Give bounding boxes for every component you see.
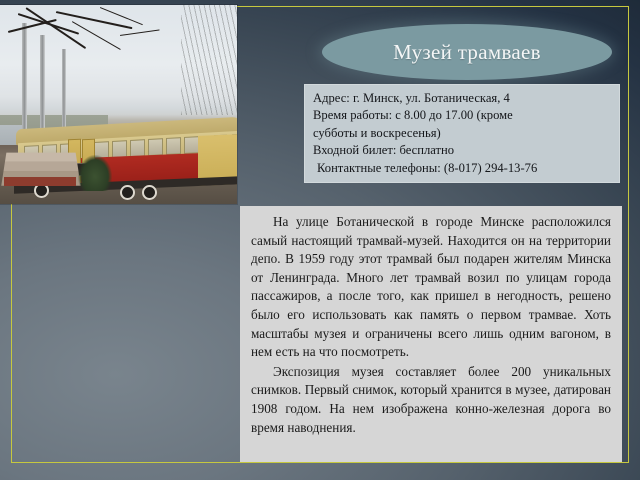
presentation-slide: Музей трамваев Адрес: г. Минск, ул. Бота… (0, 0, 640, 480)
info-hours-line-1: Время работы: с 8.00 до 17.00 (кроме (313, 107, 612, 124)
photo-tram-window (184, 136, 199, 154)
photo-steps-base (4, 177, 76, 186)
photo-tram-window (130, 139, 145, 157)
photo-branch (56, 11, 133, 29)
info-address: Адрес: г. Минск, ул. Ботаническая, 4 (313, 90, 612, 107)
museum-description-box: На улице Ботанической в городе Минске ра… (240, 206, 622, 462)
photo-birch-trunk (22, 23, 27, 139)
photo-tram-window (148, 138, 163, 156)
page-title: Музей трамваев (393, 40, 541, 65)
photo-tram-window (166, 137, 181, 155)
photo-branch (8, 19, 57, 33)
photo-canvas (0, 5, 237, 204)
info-hours-line-2: субботы и воскресенья) (313, 125, 612, 142)
info-phones: Контактные телефоны: (8-017) 294-13-76 (313, 160, 612, 177)
museum-info-box: Адрес: г. Минск, ул. Ботаническая, 4 Вре… (304, 84, 620, 183)
photo-birch-trunk (40, 35, 45, 135)
tram-museum-photo (0, 5, 237, 204)
photo-branch (120, 29, 160, 36)
photo-birch-trunk (62, 49, 66, 135)
photo-branch (72, 21, 121, 50)
photo-willow-tree (181, 5, 237, 115)
photo-branch (25, 7, 86, 49)
photo-tram-wheel (142, 185, 157, 200)
photo-shrub (78, 155, 112, 191)
info-ticket: Входной билет: бесплатно (313, 142, 612, 159)
description-paragraph-2: Экспозиция музея составляет более 200 ун… (251, 363, 611, 437)
slide-title-badge: Музей трамваев (322, 24, 612, 80)
description-paragraph-1: На улице Ботанической в городе Минске ра… (251, 213, 611, 362)
photo-tram-wheel (120, 185, 135, 200)
